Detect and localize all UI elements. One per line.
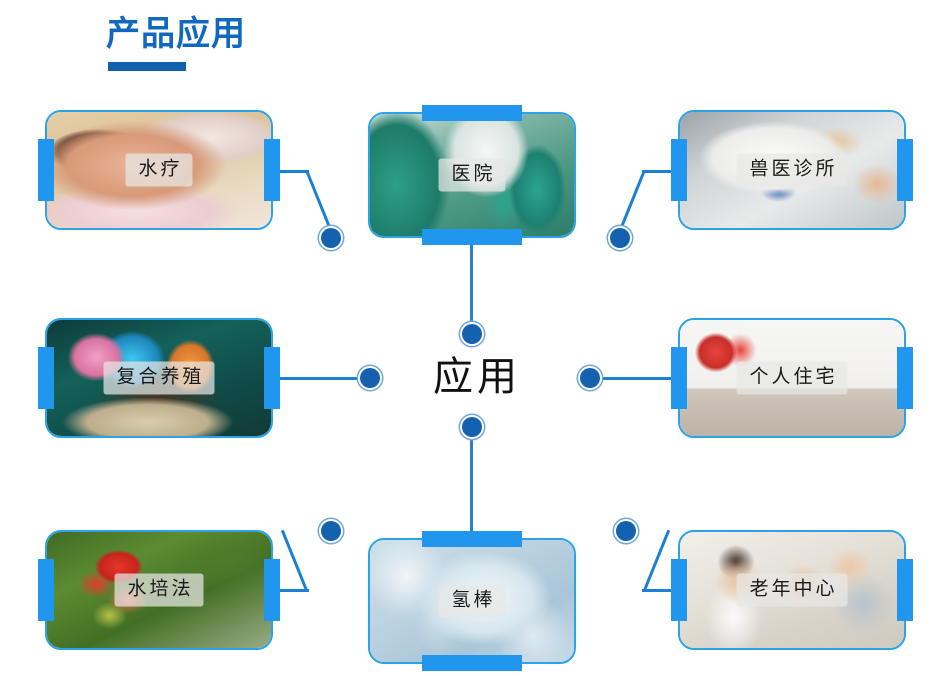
card-spa-label: 水疗 (125, 154, 192, 187)
card-aquaculture-tab-left (38, 347, 54, 409)
card-vet[interactable]: 兽医诊所 (678, 110, 906, 230)
product-application-diagram: 产品应用 水疗 医院 (0, 0, 950, 676)
card-home-tab-right (897, 347, 913, 409)
card-vet-tab-right (897, 139, 913, 201)
card-home-label: 个人住宅 (736, 362, 847, 395)
card-hydrogen-rod-label: 氢棒 (438, 585, 505, 618)
card-elderly-center-label: 老年中心 (736, 574, 847, 607)
card-hospital-label: 医院 (438, 159, 505, 192)
card-hydrogen-rod[interactable]: 氢棒 (368, 538, 576, 664)
card-home-tab-left (671, 347, 687, 409)
connector-hospital-vertical (470, 238, 473, 336)
card-hospital[interactable]: 医院 (368, 112, 576, 238)
card-elderly-center-tab-left (671, 559, 687, 621)
card-hydroponics-label: 水培法 (114, 574, 203, 607)
card-aquaculture[interactable]: 复合养殖 (45, 318, 273, 438)
card-hydrogen-rod-tab-top (422, 531, 522, 547)
card-aquaculture-label: 复合养殖 (103, 362, 214, 395)
card-spa-tab-right (264, 139, 280, 201)
card-spa-tab-left (38, 139, 54, 201)
hub-label: 应用 (412, 349, 542, 405)
node-dot-vet[interactable] (610, 228, 630, 248)
node-dot-aqua[interactable] (360, 368, 380, 388)
node-dot-hospital[interactable] (462, 324, 482, 344)
title-underline (108, 62, 186, 71)
card-hydroponics-tab-right (264, 559, 280, 621)
card-hydroponics[interactable]: 水培法 (45, 530, 273, 650)
card-hospital-tab-top (422, 105, 522, 121)
card-spa[interactable]: 水疗 (45, 110, 273, 230)
node-dot-home[interactable] (580, 368, 600, 388)
card-vet-tab-left (671, 139, 687, 201)
card-aquaculture-tab-right (264, 347, 280, 409)
card-vet-label: 兽医诊所 (736, 154, 847, 187)
page-title: 产品应用 (106, 12, 246, 56)
node-dot-spa[interactable] (321, 228, 341, 248)
node-dot-hrod[interactable] (462, 417, 482, 437)
card-hydrogen-rod-tab-bottom (422, 655, 522, 671)
card-elderly-center-tab-right (897, 559, 913, 621)
connector-aqua-horizontal (272, 377, 372, 380)
card-elderly-center[interactable]: 老年中心 (678, 530, 906, 650)
connector-hrod-vertical (470, 424, 473, 532)
card-hydroponics-tab-left (38, 559, 54, 621)
connector-elder-diagonal (643, 530, 671, 592)
connector-hydro-diagonal (281, 530, 309, 592)
node-dot-elder[interactable] (616, 521, 636, 541)
card-hospital-tab-bottom (422, 229, 522, 245)
node-dot-hydro[interactable] (321, 521, 341, 541)
card-home[interactable]: 个人住宅 (678, 318, 906, 438)
